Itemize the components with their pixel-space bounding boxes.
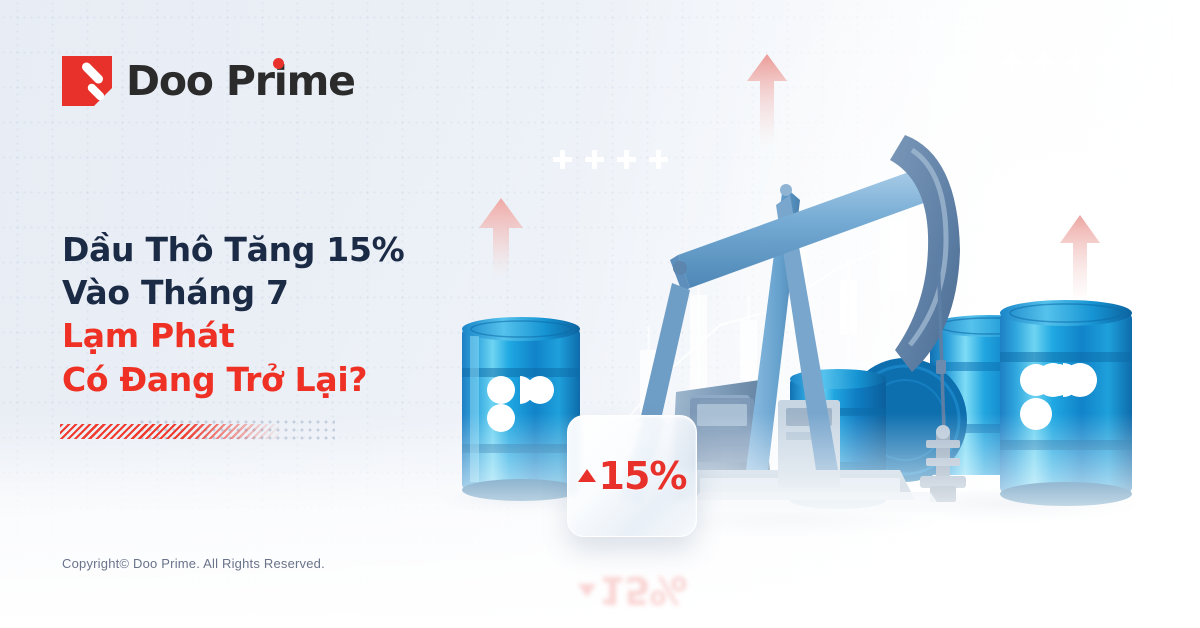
headline-line-1: Dầu Thô Tăng 15%: [62, 228, 404, 271]
hatch-pattern: [60, 424, 282, 439]
percentage-badge-reflection: 15%: [567, 545, 697, 623]
headline-line-2: Vào Tháng 7: [62, 271, 404, 314]
copyright-text: Copyright© Doo Prime. All Rights Reserve…: [62, 556, 325, 571]
brand-logo[interactable]: Doo Prime: [62, 56, 355, 106]
decorative-divider: [60, 418, 335, 444]
doo-prime-mark-icon: [62, 56, 112, 106]
badge-value-reflection: 15%: [599, 571, 687, 609]
badge-value: 15%: [599, 457, 687, 495]
logo-accent-dot: [273, 58, 284, 69]
triangle-up-icon: [578, 585, 596, 598]
headline-line-4: Có Đang Trở Lại?: [62, 358, 404, 401]
brand-name: Doo Prime: [126, 61, 355, 102]
headline-block: Dầu Thô Tăng 15% Vào Tháng 7 Lạm Phát Có…: [62, 228, 404, 401]
promo-banner: 15% 15% Doo Prime Dầu Thô Tăng 15% Vào T…: [0, 0, 1200, 628]
triangle-up-icon: [578, 469, 596, 482]
percentage-badge: 15%: [567, 415, 697, 537]
headline-line-3: Lạm Phát: [62, 314, 404, 357]
